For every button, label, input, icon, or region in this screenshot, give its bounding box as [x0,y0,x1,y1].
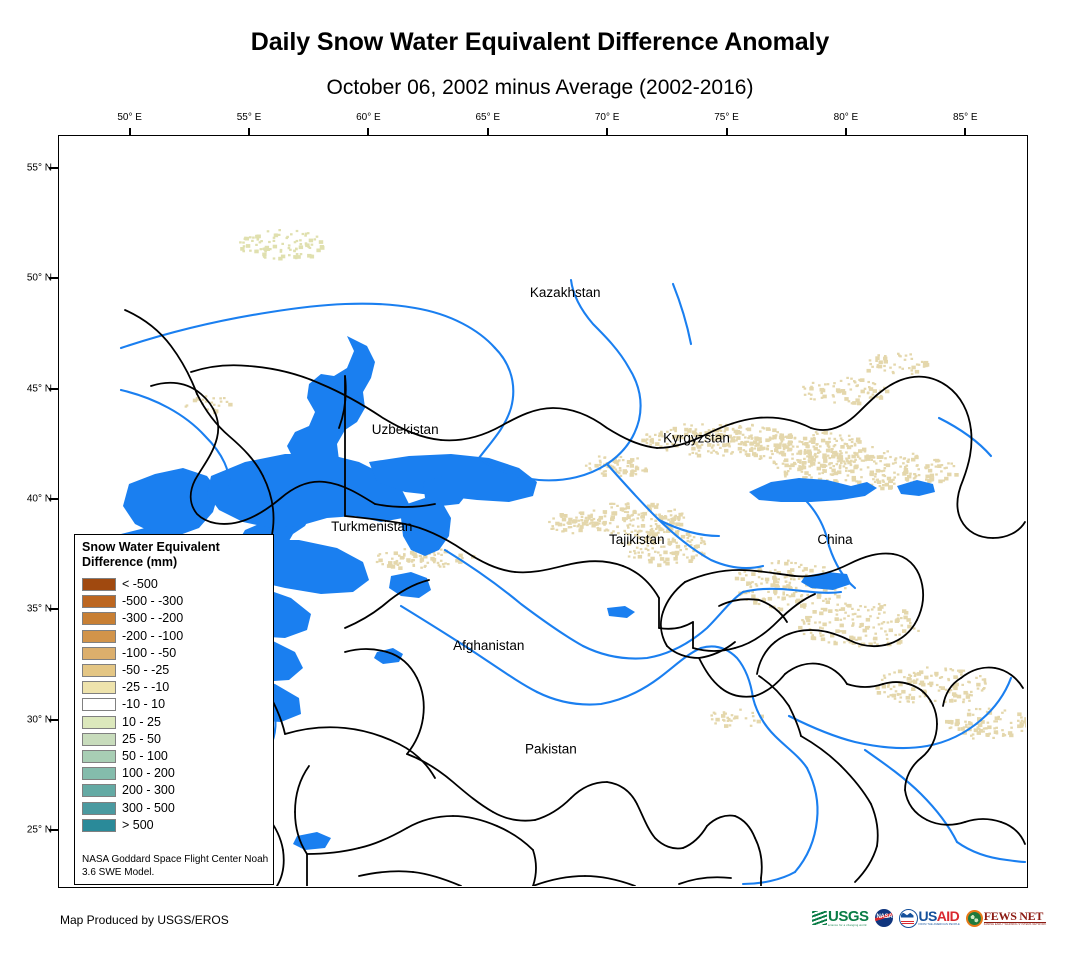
anomaly-cell [850,388,853,390]
anomaly-cell [562,530,565,532]
anomaly-cell [814,622,817,624]
anomaly-cell [1001,729,1004,731]
anomaly-cell [1024,721,1026,725]
legend-label: -100 - -50 [122,647,176,660]
anomaly-cell [757,437,761,441]
anomaly-cell [385,552,388,554]
anomaly-cell [314,238,317,240]
anomaly-cell [784,475,787,477]
anomaly-cell [776,431,779,433]
anomaly-cell [909,694,912,696]
usgs-wave-icon [812,911,827,925]
anomaly-cell [260,248,263,250]
anomaly-cell [968,709,971,711]
anomaly-cell [830,432,833,434]
anomaly-cell [585,523,588,525]
anomaly-cell [877,481,880,483]
anomaly-cell [593,510,596,512]
anomaly-cell [597,528,601,532]
anomaly-cell [884,369,887,371]
anomaly-cell [851,445,854,447]
anomaly-cell [299,239,302,241]
anomaly-cell [730,453,733,455]
anomaly-cell [648,559,651,561]
anomaly-cell [273,245,277,249]
anomaly-cell [901,690,905,694]
anomaly-cell [777,562,780,564]
anomaly-cell [649,436,652,438]
anomaly-cell [763,455,766,457]
anomaly-cell [963,699,966,701]
anomaly-cell [789,468,792,470]
anomaly-cell [754,454,758,458]
anomaly-cell [869,363,872,365]
legend-label: -200 - -100 [122,630,183,643]
anomaly-cell [690,424,693,426]
anomaly-cell [760,457,763,459]
anomaly-cell [756,585,759,587]
anomaly-cell [812,610,816,614]
anomaly-cell [890,621,893,623]
legend-row: -100 - -50 [82,645,268,662]
anomaly-cell [610,517,614,521]
anomaly-cell [931,464,934,466]
anomaly-cell [878,623,881,625]
anomaly-cell [911,358,914,360]
anomaly-cell [316,236,319,238]
anomaly-cell [783,446,786,448]
country-label: Kazakhstan [530,285,601,300]
anomaly-cell [839,467,842,469]
anomaly-cell [909,353,912,355]
anomaly-cell [568,526,571,528]
anomaly-cell [852,618,855,620]
latitude-tick-label: 50° N [16,273,52,284]
anomaly-cell [589,469,592,471]
anomaly-cell [398,555,401,557]
anomaly-cell [879,485,882,487]
anomaly-cell [667,519,670,521]
anomaly-cell [873,389,877,393]
anomaly-cell [780,437,784,441]
anomaly-cell [930,474,934,478]
legend-items: < -500-500 - -300-300 - -200-200 - -100-… [82,576,268,834]
anomaly-cell [837,470,841,474]
anomaly-cell [563,524,566,526]
anomaly-cell [798,566,801,568]
anomaly-cell [804,388,807,390]
anomaly-cell [590,514,593,516]
anomaly-cell [828,457,831,459]
anomaly-cell [822,570,825,572]
anomaly-cell [632,519,635,521]
anomaly-cell [857,637,861,641]
anomaly-cell [883,452,886,454]
latitude-tick-label: 45° N [16,383,52,394]
anomaly-cell [798,627,801,629]
anomaly-cell [296,253,299,255]
anomaly-cell [831,451,834,453]
anomaly-cell [763,427,766,429]
anomaly-cell [781,440,784,442]
anomaly-cell [288,254,291,256]
anomaly-cell [774,569,777,571]
anomaly-cell [578,520,581,522]
anomaly-cell [813,438,816,440]
anomaly-cell [801,441,804,443]
anomaly-cell [792,446,795,448]
anomaly-cell [568,518,572,522]
anomaly-cell [874,633,877,635]
anomaly-cell [898,670,902,674]
anomaly-cell [941,464,944,466]
anomaly-cell [722,719,725,721]
anomaly-cell [821,627,824,629]
anomaly-cell [886,638,889,640]
anomaly-cell [935,473,938,475]
anomaly-cell [825,598,828,600]
legend-swatch [82,716,116,729]
anomaly-cell [689,453,692,455]
longitude-tick-label: 50° E [117,112,142,123]
anomaly-cell [836,614,839,616]
anomaly-cell [751,424,754,426]
anomaly-cell [874,481,877,483]
anomaly-cell [822,432,825,434]
anomaly-cell [963,726,966,728]
anomaly-cell [419,555,422,557]
anomaly-cell [769,437,772,439]
longitude-tick-label: 65° E [475,112,500,123]
anomaly-cell [844,397,848,401]
anomaly-cell [765,438,769,442]
anomaly-cell [433,554,436,556]
anomaly-cell [912,701,915,703]
anomaly-cell [934,700,937,702]
anomaly-cell [220,401,223,403]
anomaly-cell [851,441,854,443]
legend-label: -10 - 10 [122,698,165,711]
anomaly-cell [758,576,761,578]
anomaly-cell [899,456,902,458]
anomaly-cell [975,708,978,710]
anomaly-cell [804,471,808,475]
anomaly-cell [886,463,890,467]
anomaly-cell [765,579,768,581]
anomaly-cell [1010,727,1013,729]
anomaly-cell [770,450,773,452]
anomaly-cell [735,433,738,435]
anomaly-cell [826,600,830,604]
anomaly-cell [296,230,299,232]
anomaly-cell [1004,709,1007,711]
anomaly-cell [311,244,314,246]
anomaly-cell [936,684,939,686]
anomaly-cell [924,361,928,365]
anomaly-cell [299,245,303,249]
anomaly-cell [812,382,815,384]
anomaly-cell [875,462,878,464]
agency-logos: USGS science for a changing world NASA U… [812,905,1046,931]
anomaly-cell [767,445,770,447]
anomaly-cell [822,457,825,459]
anomaly-cell [885,390,889,394]
anomaly-cell [878,613,881,615]
anomaly-cell [598,522,601,524]
anomaly-cell [609,522,612,524]
anomaly-cell [713,712,716,714]
anomaly-cell [972,714,975,716]
anomaly-cell [957,722,960,724]
anomaly-cell [731,714,734,716]
anomaly-cell [810,394,813,396]
anomaly-cell [687,537,690,539]
country-label: Afghanistan [453,638,524,653]
anomaly-cell [774,437,777,439]
anomaly-cell [889,628,893,632]
anomaly-cell [774,593,777,595]
anomaly-cell [846,377,849,379]
anomaly-cell [638,514,641,516]
anomaly-cell [713,450,716,452]
anomaly-cell [940,470,943,472]
anomaly-cell [778,446,781,448]
anomaly-cell [398,566,402,570]
anomaly-cell [749,586,752,588]
anomaly-cell [637,517,640,519]
anomaly-cell [611,503,614,505]
anomaly-cell [845,458,848,460]
anomaly-cell [738,572,741,574]
legend-label: -50 - -25 [122,664,169,677]
anomaly-cell [650,518,653,520]
anomaly-cell [925,475,929,479]
anomaly-cell [727,720,730,722]
anomaly-cell [257,238,260,240]
nasa-logo[interactable]: NASA [875,909,893,927]
anomaly-cell [965,724,968,726]
anomaly-cell [945,689,948,691]
anomaly-cell [879,605,883,609]
anomaly-cell [999,718,1002,720]
anomaly-cell [790,578,793,580]
legend-row: 200 - 300 [82,782,268,799]
anomaly-cell [585,517,588,519]
anomaly-cell [844,463,847,465]
anomaly-cell [739,451,742,453]
anomaly-cell [687,540,690,542]
anomaly-cell [941,676,944,678]
anomaly-cell [874,642,877,644]
anomaly-cell [814,454,817,456]
anomaly-cell [710,714,713,716]
anomaly-cell [930,477,934,481]
anomaly-cell [631,469,634,471]
anomaly-cell [851,438,854,440]
anomaly-cell [274,234,278,238]
anomaly-cell [856,616,859,618]
anomaly-cell [628,555,631,557]
anomaly-cell [784,562,788,566]
anomaly-cell [899,466,902,468]
legend-label: 50 - 100 [122,750,168,763]
anomaly-cell [407,561,410,563]
usgs-wordmark: USGS [828,910,869,924]
anomaly-cell [945,720,949,724]
anomaly-cell [309,239,313,243]
anomaly-cell [911,696,915,700]
fews-net-logo[interactable]: FEWS NET FAMINE EARLY WARNING SYSTEMS NE… [966,910,1047,927]
anomaly-cell [630,464,634,468]
anomaly-cell [880,395,883,397]
anomaly-cell [728,445,731,447]
anomaly-cell [888,673,891,675]
anomaly-cell [629,551,632,553]
anomaly-cell [884,677,887,679]
anomaly-cell [683,423,686,425]
anomaly-cell [867,609,870,611]
anomaly-cell [822,566,825,568]
legend-row: 25 - 50 [82,731,268,748]
anomaly-cell [779,452,782,454]
anomaly-cell [904,466,907,468]
anomaly-cell [805,450,809,454]
anomaly-cell [677,551,680,553]
anomaly-cell [572,532,575,534]
anomaly-cell [800,564,803,566]
anomaly-cell [720,424,723,426]
anomaly-cell [858,449,862,453]
anomaly-cell [871,366,874,368]
anomaly-cell [656,503,659,505]
anomaly-cell [984,680,987,682]
anomaly-cell [437,562,440,564]
anomaly-cell [864,388,867,390]
anomaly-cell [641,469,644,471]
anomaly-cell [947,462,950,464]
anomaly-cell [766,448,769,450]
country-label: Kyrgyzstan [663,431,730,446]
anomaly-cell [813,398,816,400]
anomaly-cell [808,623,811,625]
anomaly-cell [839,434,842,436]
anomaly-cell [772,428,776,432]
legend-label: 200 - 300 [122,784,175,797]
anomaly-cell [1017,720,1020,722]
anomaly-cell [679,523,683,527]
anomaly-cell [803,465,806,467]
anomaly-cell [754,447,757,449]
anomaly-cell [977,688,980,690]
anomaly-cell [262,253,266,257]
anomaly-cell [811,602,814,604]
anomaly-cell [837,390,841,394]
anomaly-cell [767,591,770,593]
anomaly-cell [676,545,680,549]
anomaly-cell [847,615,850,617]
anomaly-cell [811,458,814,460]
anomaly-cell [676,553,679,555]
anomaly-cell [895,457,898,459]
anomaly-cell [738,447,742,451]
anomaly-cell [560,513,564,517]
anomaly-cell [843,617,846,619]
anomaly-cell [255,244,258,246]
anomaly-cell [834,641,837,643]
anomaly-cell [598,455,601,457]
anomaly-cell [790,562,793,564]
anomaly-cell [632,525,635,527]
anomaly-cell [873,456,876,458]
anomaly-cell [877,354,880,356]
anomaly-cell [803,621,806,623]
anomaly-cell [836,463,839,465]
anomaly-cell [828,641,831,643]
anomaly-cell [907,461,910,463]
anomaly-cell [817,452,820,454]
anomaly-cell [686,556,689,558]
anomaly-cell [286,236,289,238]
anomaly-cell [626,524,629,526]
usgs-logo[interactable]: USGS science for a changing world [812,910,869,927]
anomaly-cell [642,519,645,521]
anomaly-cell [654,434,657,436]
anomaly-cell [957,670,960,672]
anomaly-cell [924,676,928,680]
anomaly-cell [747,437,750,439]
anomaly-cell [914,675,917,677]
anomaly-cell [909,473,912,475]
anomaly-cell [881,622,884,624]
anomaly-cell [391,565,395,569]
anomaly-cell [678,519,681,521]
anomaly-cell [839,630,842,632]
legend-swatch [82,750,116,763]
anomaly-cell [646,433,649,435]
anomaly-cell [548,521,551,523]
anomaly-cell [726,717,729,719]
anomaly-cell [924,466,927,468]
anomaly-cell [599,464,602,466]
anomaly-cell [974,728,978,732]
anomaly-cell [741,577,745,581]
anomaly-cell [562,518,566,522]
anomaly-cell [821,439,825,443]
anomaly-cell [579,525,583,529]
longitude-tick-label: 60° E [356,112,381,123]
anomaly-cell [637,526,640,528]
legend-swatch [82,767,116,780]
usaid-logo[interactable]: USAID FROM THE AMERICAN PEOPLE [899,909,960,928]
anomaly-cell [855,480,858,482]
anomaly-cell [882,484,885,486]
anomaly-cell [702,540,705,542]
map-credit: Map Produced by USGS/EROS [60,913,229,927]
anomaly-cell [711,718,714,720]
anomaly-cell [649,444,652,446]
anomaly-cell [670,510,673,512]
anomaly-cell [911,373,914,375]
anomaly-cell [645,467,648,469]
anomaly-cell [440,560,443,562]
anomaly-cell [828,609,832,613]
anomaly-cell [918,474,921,476]
anomaly-cell [893,476,896,478]
anomaly-cell [871,446,874,448]
anomaly-cell [883,365,886,367]
anomaly-cell [750,436,753,438]
anomaly-cell [624,511,627,513]
